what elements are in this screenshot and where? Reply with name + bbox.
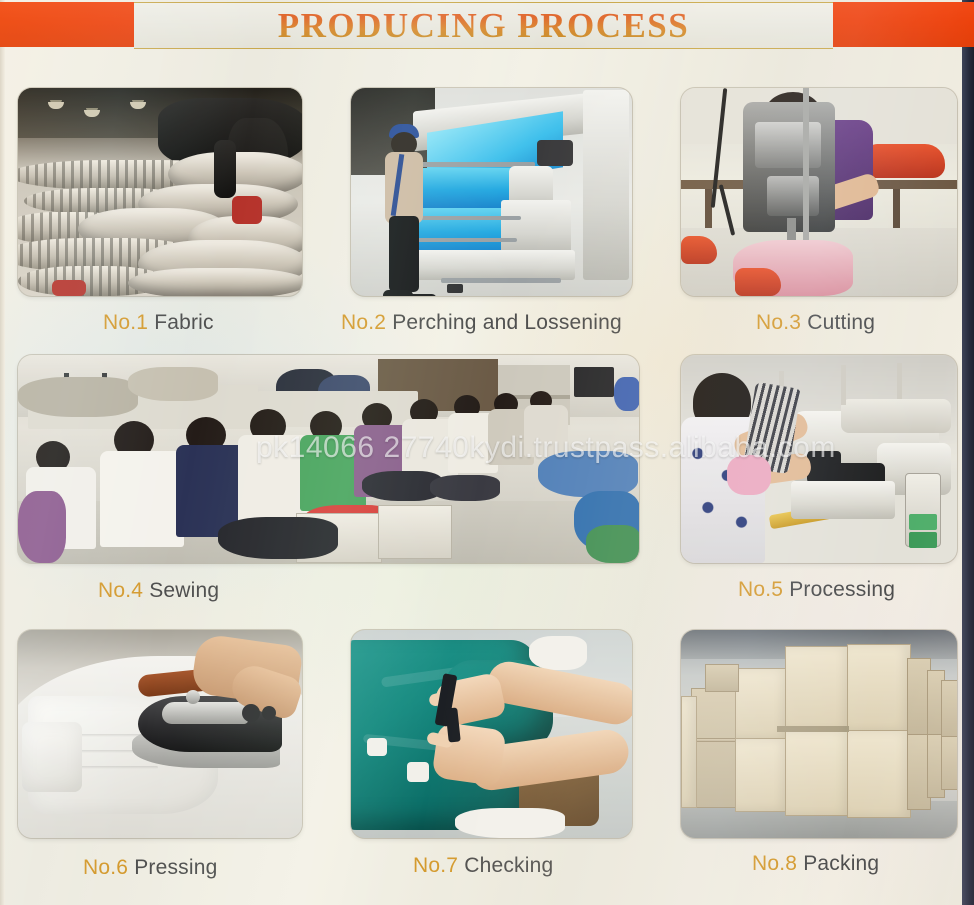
producing-process-poster: PRODUCING PROCESS bbox=[0, 0, 974, 905]
photo-step-6 bbox=[18, 630, 302, 838]
scene-sewing-floor bbox=[18, 355, 639, 563]
scene-pressing bbox=[18, 630, 302, 838]
photo-step-4 bbox=[18, 355, 639, 563]
caption-step-7: No.7 Checking bbox=[413, 854, 553, 878]
caption-step-4: No.4 Sewing bbox=[98, 579, 219, 603]
title-panel: PRODUCING PROCESS bbox=[134, 2, 833, 49]
scene-fabric-warehouse bbox=[18, 88, 302, 296]
caption-step-2: No.2 Perching and Lossening bbox=[341, 311, 622, 335]
caption-number-2: No.2 bbox=[341, 311, 392, 334]
page-title: PRODUCING PROCESS bbox=[278, 6, 690, 46]
page-left-edge bbox=[0, 0, 5, 905]
caption-number-3: No.3 bbox=[756, 311, 807, 334]
photo-step-2 bbox=[351, 88, 632, 296]
photo-step-3 bbox=[681, 88, 957, 296]
photo-step-8 bbox=[681, 630, 957, 838]
caption-step-8: No.8 Packing bbox=[752, 852, 879, 876]
caption-name-8: Packing bbox=[803, 852, 879, 875]
header-bar-right bbox=[833, 2, 974, 47]
caption-name-3: Cutting bbox=[807, 311, 875, 334]
caption-number-7: No.7 bbox=[413, 854, 464, 877]
scene-checking bbox=[351, 630, 632, 838]
caption-step-5: No.5 Processing bbox=[738, 578, 895, 602]
caption-name-6: Pressing bbox=[134, 856, 217, 879]
photo-step-1 bbox=[18, 88, 302, 296]
header-bar-left bbox=[0, 2, 134, 47]
caption-name-4: Sewing bbox=[149, 579, 219, 602]
caption-step-1: No.1 Fabric bbox=[103, 311, 214, 335]
caption-number-4: No.4 bbox=[98, 579, 149, 602]
caption-name-5: Processing bbox=[789, 578, 895, 601]
caption-number-5: No.5 bbox=[738, 578, 789, 601]
header: PRODUCING PROCESS bbox=[0, 2, 974, 48]
caption-step-3: No.3 Cutting bbox=[756, 311, 875, 335]
scene-cutting bbox=[681, 88, 957, 296]
caption-step-6: No.6 Pressing bbox=[83, 856, 218, 880]
photo-step-5 bbox=[681, 355, 957, 563]
caption-number-1: No.1 bbox=[103, 311, 154, 334]
scene-packing bbox=[681, 630, 957, 838]
caption-number-6: No.6 bbox=[83, 856, 134, 879]
page-right-edge bbox=[962, 0, 974, 905]
caption-name-7: Checking bbox=[464, 854, 553, 877]
caption-number-8: No.8 bbox=[752, 852, 803, 875]
caption-name-1: Fabric bbox=[154, 311, 214, 334]
caption-name-2: Perching and Lossening bbox=[392, 311, 622, 334]
scene-processing bbox=[681, 355, 957, 563]
photo-step-7 bbox=[351, 630, 632, 838]
scene-perching-machine bbox=[351, 88, 632, 296]
